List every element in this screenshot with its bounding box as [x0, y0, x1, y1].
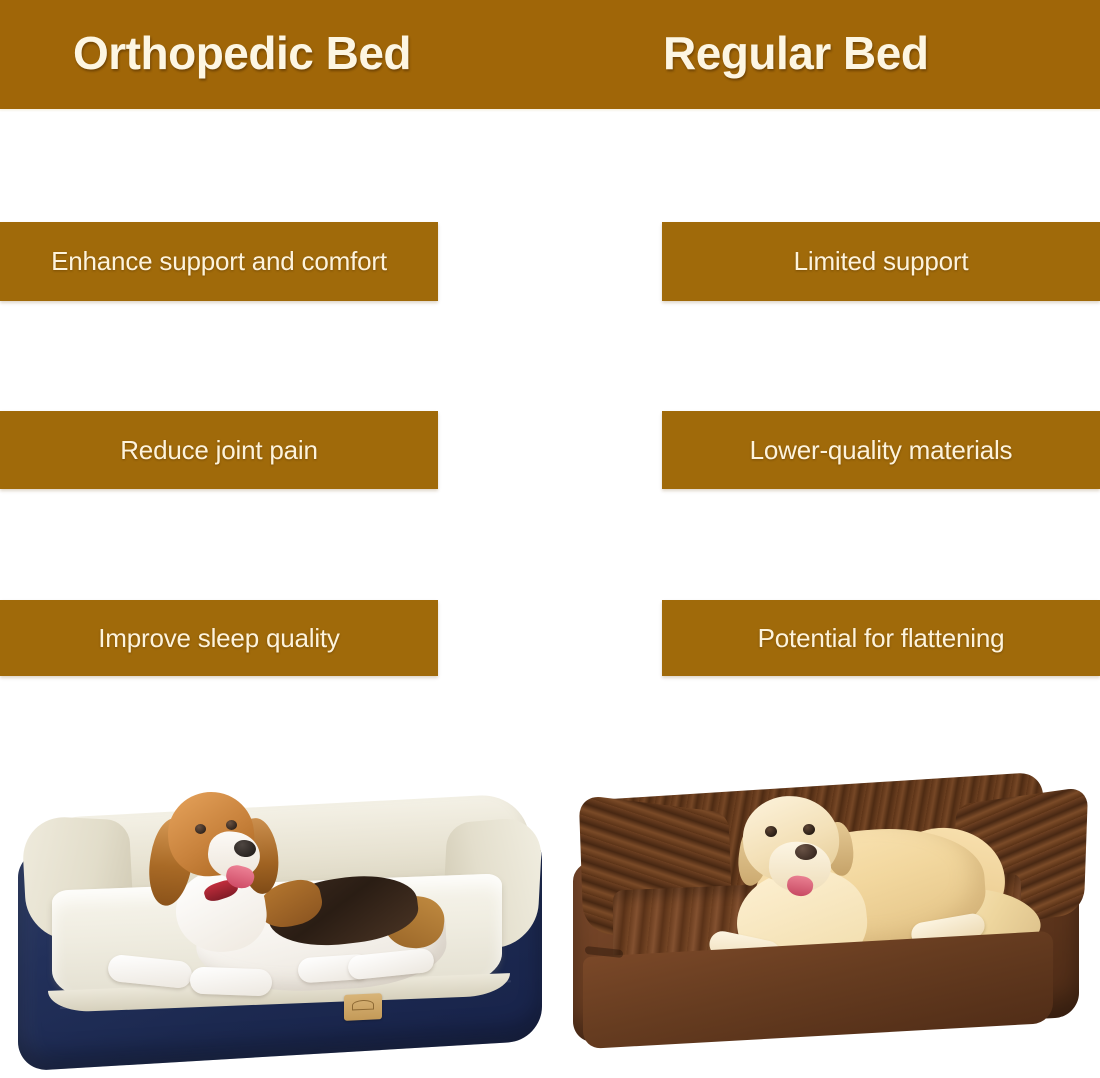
feature-bar-regular-1: Limited support: [662, 222, 1100, 301]
header-band: Orthopedic Bed Regular Bed: [0, 0, 1100, 109]
product-image-regular-bed: [555, 700, 1100, 1078]
regular-bed-illustration: [555, 700, 1100, 1078]
beagle-dog: [0, 700, 560, 1078]
feature-label: Potential for flattening: [758, 623, 1005, 654]
feature-label: Reduce joint pain: [120, 435, 318, 466]
page-title-regular: Regular Bed: [663, 22, 928, 84]
feature-bar-orthopedic-3: Improve sleep quality: [0, 600, 438, 676]
product-images-row: [0, 700, 1100, 1078]
dog-front-paw-right: [190, 967, 273, 997]
feature-label: Limited support: [794, 246, 969, 277]
dog-eye-left: [195, 824, 206, 834]
feature-label: Improve sleep quality: [98, 623, 339, 654]
feature-bar-regular-3: Potential for flattening: [662, 600, 1100, 676]
brand-tag: [344, 993, 382, 1021]
feature-label: Lower-quality materials: [750, 435, 1013, 466]
dog-nose: [795, 844, 817, 860]
dog-eye-right: [803, 824, 815, 835]
product-image-orthopedic-bed: [0, 700, 560, 1078]
feature-bar-regular-2: Lower-quality materials: [662, 411, 1100, 489]
page-title-orthopedic: Orthopedic Bed: [73, 22, 411, 84]
feature-label: Enhance support and comfort: [51, 246, 387, 277]
feature-bar-orthopedic-2: Reduce joint pain: [0, 411, 438, 489]
orthopedic-bed-illustration: [0, 700, 560, 1078]
dog-front-paw-left: [107, 954, 193, 990]
feature-bar-orthopedic-1: Enhance support and comfort: [0, 222, 438, 301]
dog-eye-right: [226, 820, 237, 830]
dog-eye-left: [765, 826, 777, 837]
